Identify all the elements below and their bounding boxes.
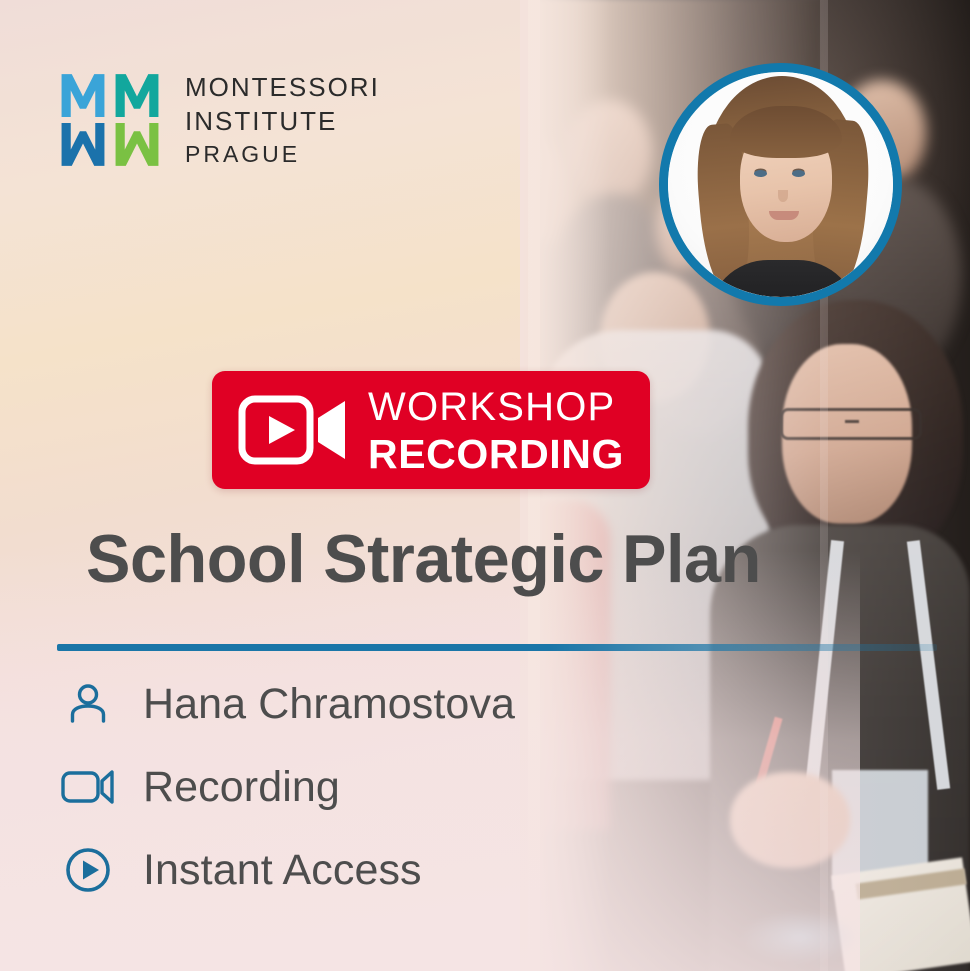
mmmm-monogram-icon <box>57 70 163 170</box>
brand-name-line3: PRAGUE <box>185 140 380 168</box>
list-item-label: Instant Access <box>143 846 422 895</box>
list-item: Recording <box>57 759 515 815</box>
page-title: School Strategic Plan <box>86 520 761 598</box>
video-camera-icon <box>57 759 119 815</box>
info-list: Hana Chramostova Recording Instant Acces… <box>57 676 515 898</box>
brand-name: MONTESSORI INSTITUTE PRAGUE <box>185 72 380 167</box>
workshop-recording-badge: WORKSHOP RECORDING <box>212 371 650 489</box>
video-camera-play-icon <box>238 393 350 467</box>
person-icon <box>57 676 119 732</box>
brand-name-line2: INSTITUTE <box>185 106 380 138</box>
list-item-label: Recording <box>143 763 340 812</box>
brand-name-line1: MONTESSORI <box>185 72 380 104</box>
list-item: Instant Access <box>57 842 515 898</box>
badge-line-recording: RECORDING <box>368 434 624 475</box>
divider-line <box>57 644 937 651</box>
badge-text: WORKSHOP RECORDING <box>368 385 624 475</box>
badge-line-workshop: WORKSHOP <box>368 387 624 427</box>
play-circle-icon <box>57 842 119 898</box>
portrait-photo <box>668 72 893 297</box>
brand-logo: MONTESSORI INSTITUTE PRAGUE <box>57 70 380 170</box>
list-item-label: Hana Chramostova <box>143 680 515 729</box>
list-item: Hana Chramostova <box>57 676 515 732</box>
promo-poster: MONTESSORI INSTITUTE PRAGUE <box>0 0 970 971</box>
speaker-portrait <box>659 63 902 306</box>
